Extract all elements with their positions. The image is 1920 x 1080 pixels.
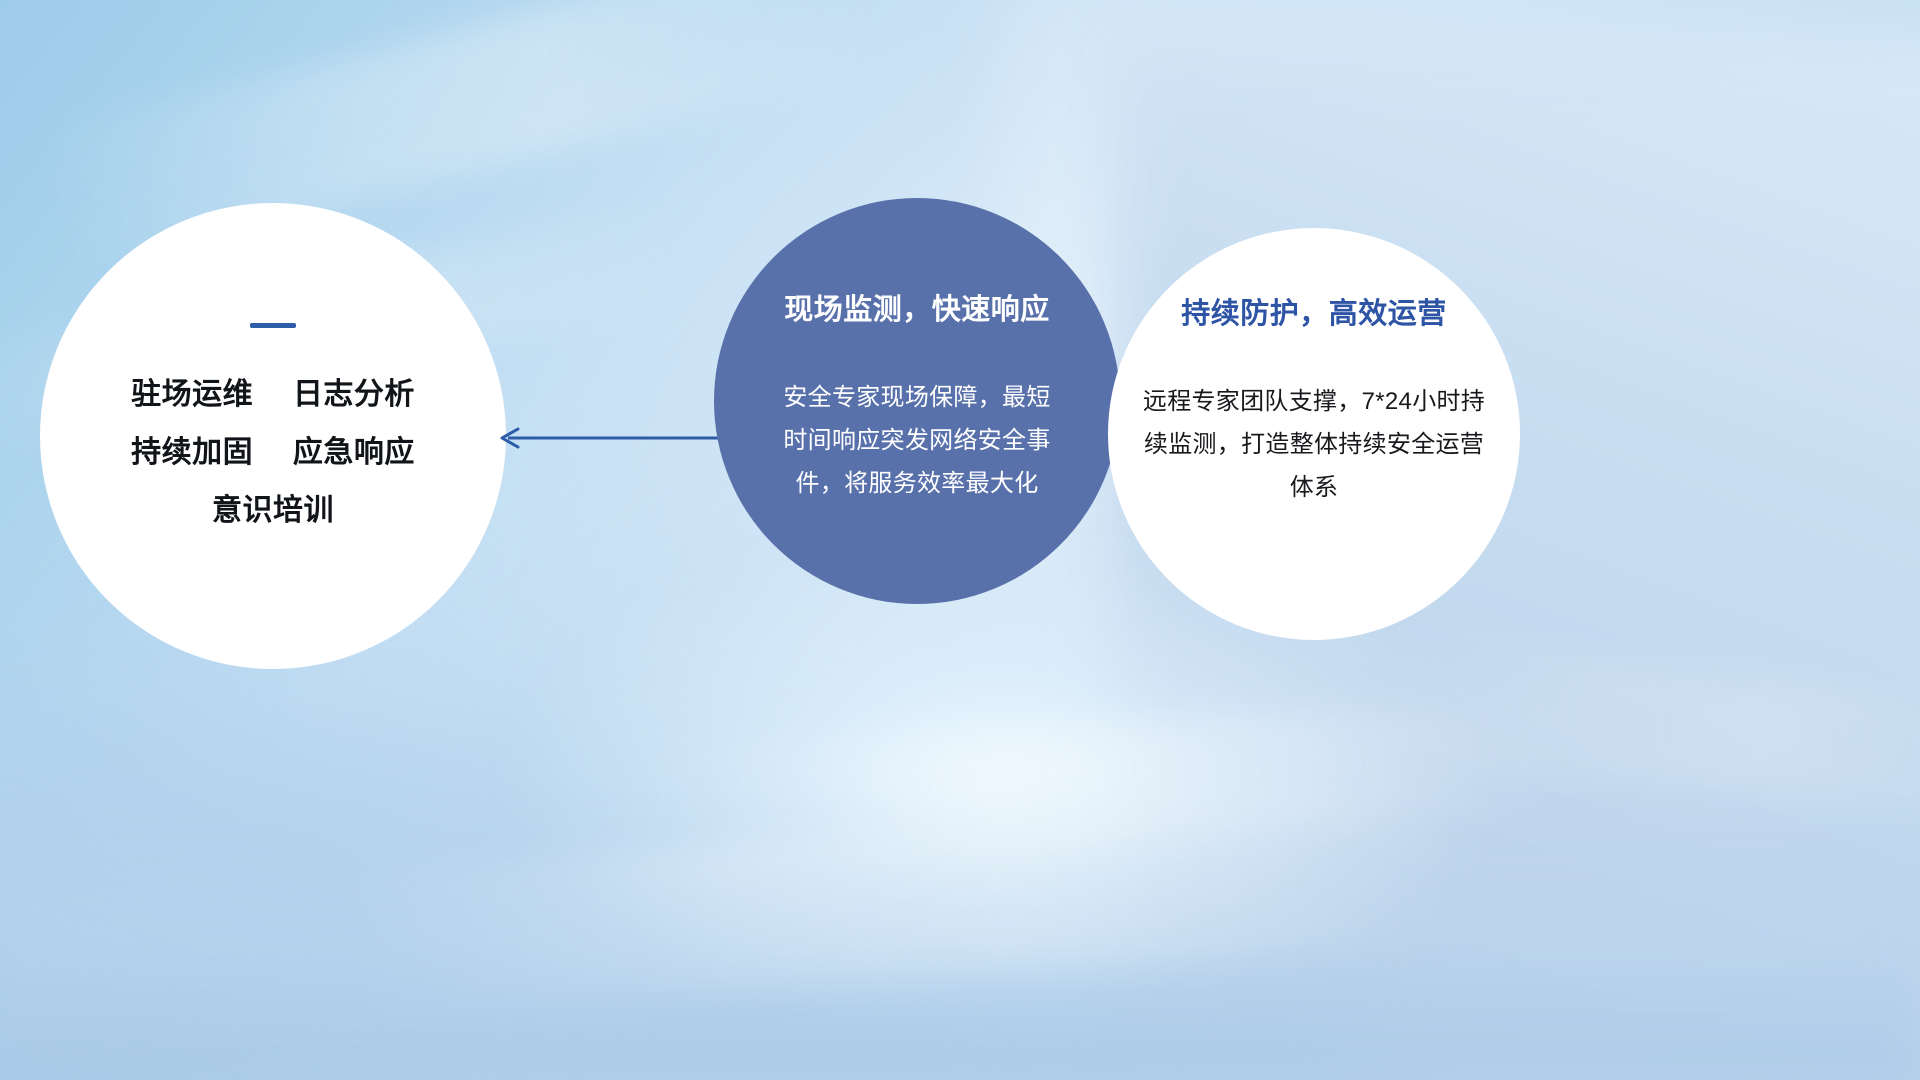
continuous-protection-body: 远程专家团队支撑，7*24小时持续监测，打造整体持续安全运营体系: [1136, 380, 1492, 509]
onsite-monitoring-title: 现场监测，快速响应: [784, 286, 1050, 328]
capability-tag-row: 意识培训: [131, 482, 415, 540]
capability-tag-row: 持续加固 应急响应: [131, 424, 415, 482]
capability-tag[interactable]: 应急响应: [293, 436, 415, 469]
continuous-protection-title: 持续防护，高效运营: [1181, 290, 1447, 332]
capability-tag[interactable]: 驻场运维: [131, 378, 253, 411]
capability-tag-list: 驻场运维 日志分析 持续加固 应急响应 意识培训: [131, 366, 415, 540]
capability-tag[interactable]: 日志分析: [293, 378, 415, 411]
background-haze-bottom: [0, 799, 1920, 1080]
onsite-monitoring-circle[interactable]: 现场监测，快速响应 安全专家现场保障，最短时间响应突发网络安全事件，将服务效率最…: [714, 198, 1120, 604]
divider-dash: [250, 323, 296, 328]
continuous-protection-circle[interactable]: 持续防护，高效运营 远程专家团队支撑，7*24小时持续监测，打造整体持续安全运营…: [1108, 228, 1520, 640]
capability-tag[interactable]: 意识培训: [212, 494, 334, 527]
onsite-monitoring-body: 安全专家现场保障，最短时间响应突发网络安全事件，将服务效率最大化: [778, 376, 1056, 505]
left-capability-circle[interactable]: 驻场运维 日志分析 持续加固 应急响应 意识培训: [40, 203, 506, 669]
capability-tag-row: 驻场运维 日志分析: [131, 366, 415, 424]
arrow-left-icon: [492, 424, 722, 452]
slide-canvas: 驻场运维 日志分析 持续加固 应急响应 意识培训 现场监测，快速响应 安全专家现…: [0, 0, 1920, 1080]
capability-tag[interactable]: 持续加固: [131, 436, 253, 469]
